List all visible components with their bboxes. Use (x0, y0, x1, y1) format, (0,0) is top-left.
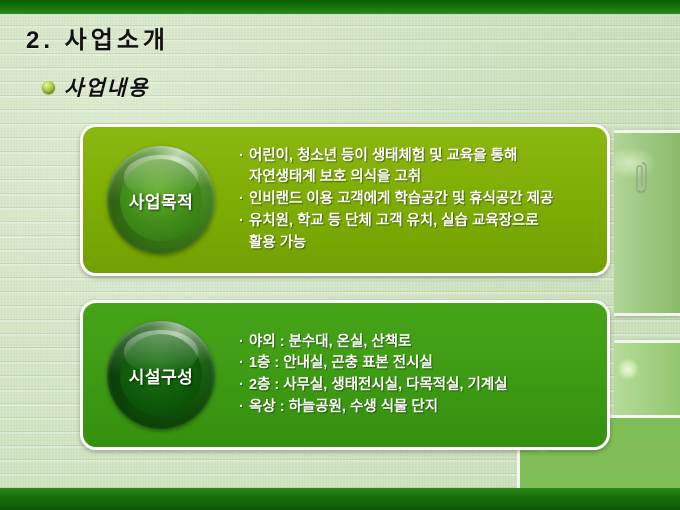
bullet-text: 자연생태계 보호 의식을 고취 (249, 167, 421, 189)
bullet-marker: · (239, 353, 249, 375)
bullet-marker: · (239, 211, 249, 233)
bullet-line: · 야외 : 분수대, 온실, 산책로 (239, 332, 508, 354)
bullet-marker: · (239, 189, 249, 211)
bullet-line: · 유치원, 학교 등 단체 고객 유치, 실습 교육장으로 (239, 211, 553, 233)
subtitle-label: 사업내용 (64, 72, 149, 102)
sphere-bullet-icon (42, 81, 55, 94)
bullet-marker: · (239, 332, 249, 354)
bullet-text: 1층 : 안내실, 곤충 표본 전시실 (249, 353, 433, 375)
badge-label-facility: 시설구성 (129, 363, 194, 388)
page-title: 2. 사업소개 (26, 20, 169, 55)
badge-facility: 시설구성 (107, 321, 215, 429)
bullet-text: 야외 : 분수대, 온실, 산책로 (249, 332, 411, 354)
bullet-line: · 인비랜드 이용 고객에게 학습공간 및 휴식공간 제공 (239, 189, 553, 211)
bullet-line: · 어린이, 청소년 등이 생태체험 및 교육을 통해 (239, 146, 553, 168)
bullet-text: 유치원, 학교 등 단체 고객 유치, 실습 교육장으로 (249, 211, 539, 233)
bullet-text: 어린이, 청소년 등이 생태체험 및 교육을 통해 (249, 146, 517, 168)
bullet-text: 옥상 : 하늘공원, 수생 식물 단지 (249, 397, 438, 419)
bullet-marker: · (239, 146, 249, 168)
bullet-line: · 1층 : 안내실, 곤충 표본 전시실 (239, 353, 508, 375)
presentation-slide: 2. 사업소개 사업내용 사업목적 · 어린이, 청소년 등이 생태체험 및 교… (0, 0, 680, 510)
bullet-line: · 활용 가능 (239, 233, 553, 255)
bullet-marker: · (239, 375, 249, 397)
paperclip-icon (636, 161, 648, 195)
content-box-purpose: 사업목적 · 어린이, 청소년 등이 생태체험 및 교육을 통해 · 자연생태계… (80, 124, 610, 276)
badge-label-purpose: 사업목적 (129, 188, 194, 213)
content-box-facility: 시설구성 · 야외 : 분수대, 온실, 산책로 · 1층 : 안내실, 곤충 … (80, 300, 610, 450)
bullet-list-purpose: · 어린이, 청소년 등이 생태체험 및 교육을 통해 · 자연생태계 보호 의… (239, 146, 565, 255)
bullet-text: 2층 : 사무실, 생태전시실, 다목적실, 기계실 (249, 375, 508, 397)
bullet-line: · 옥상 : 하늘공원, 수생 식물 단지 (239, 397, 508, 419)
bullet-line: · 2층 : 사무실, 생태전시실, 다목적실, 기계실 (239, 375, 508, 397)
bottom-accent-bar (0, 488, 680, 510)
subtitle-row: 사업내용 (42, 72, 149, 102)
bullet-list-facility: · 야외 : 분수대, 온실, 산책로 · 1층 : 안내실, 곤충 표본 전시… (239, 332, 520, 419)
bullet-line: · 자연생태계 보호 의식을 고취 (239, 167, 553, 189)
top-accent-bar (0, 0, 680, 14)
bullet-marker: · (239, 397, 249, 419)
badge-purpose: 사업목적 (107, 146, 215, 254)
bullet-text: 활용 가능 (249, 233, 306, 255)
bullet-text: 인비랜드 이용 고객에게 학습공간 및 휴식공간 제공 (249, 189, 553, 211)
leaves-photo (614, 130, 680, 316)
